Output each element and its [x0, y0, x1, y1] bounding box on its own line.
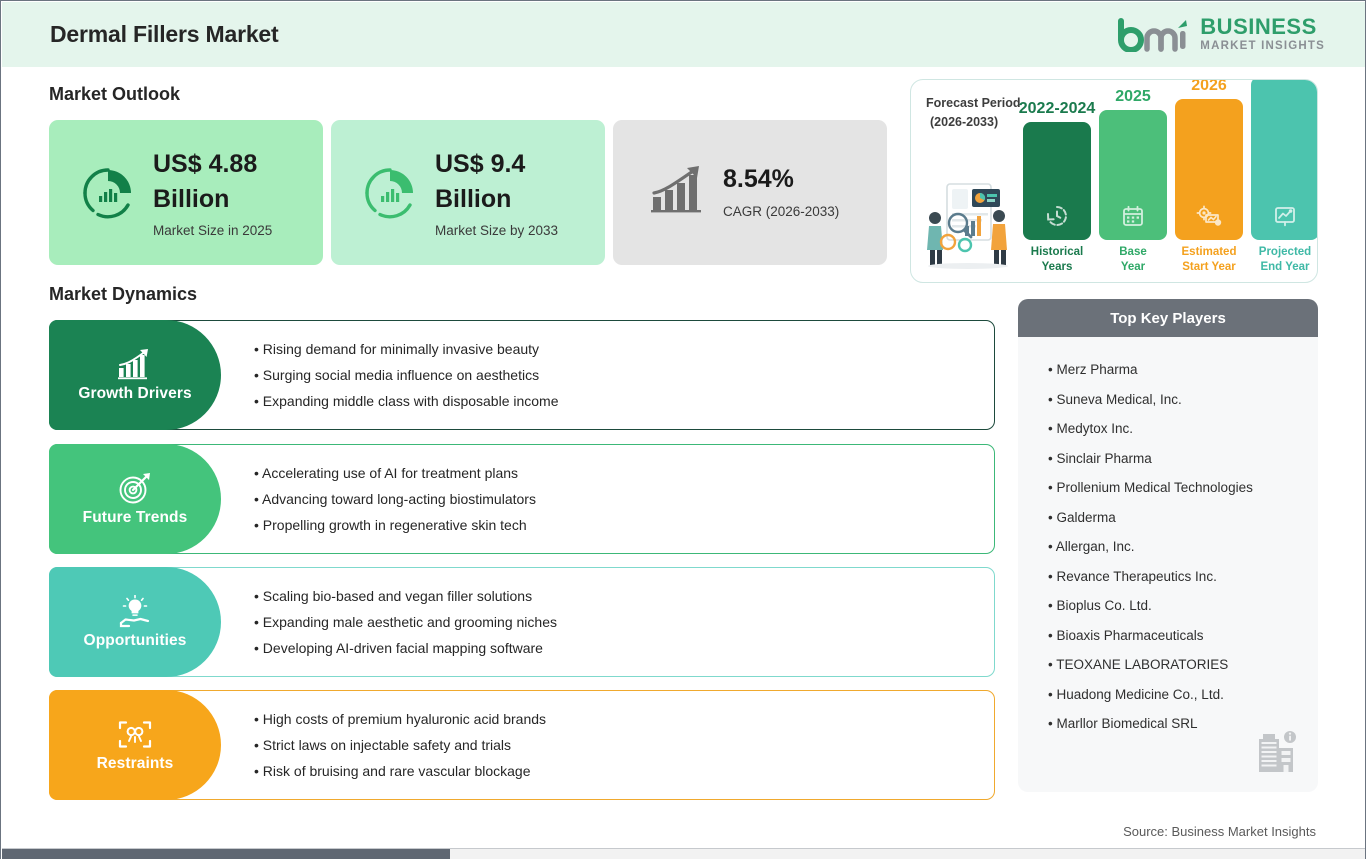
forecast-bar-year: 2025 — [1115, 89, 1151, 105]
list-item: • Galderma — [1048, 503, 1318, 533]
target-dart-icon — [117, 472, 153, 505]
market-dynamics-heading: Market Dynamics — [49, 284, 197, 305]
dynamics-pill-label: Growth Drivers — [78, 385, 191, 403]
horizontal-scrollbar[interactable] — [2, 848, 1365, 859]
dynamics-pill-label: Future Trends — [83, 509, 188, 527]
history-clock-icon — [1045, 204, 1069, 228]
source-attribution: Source: Business Market Insights — [1123, 824, 1316, 839]
list-item: • Medytox Inc. — [1048, 414, 1318, 444]
stat-card-cagr: 8.54% CAGR (2026-2033) — [613, 120, 887, 265]
constraint-frame-icon — [117, 718, 153, 751]
stat-card-market-size-2025: US$ 4.88 Billion Market Size in 2025 — [49, 120, 323, 265]
dynamics-card-growth-drivers: • Rising demand for minimally invasive b… — [49, 320, 995, 430]
donut-chart-icon — [361, 164, 419, 222]
list-item: • Merz Pharma — [1048, 355, 1318, 385]
forecast-bar-projected: 2033 Projected End Year — [1251, 79, 1318, 274]
dynamics-item: • Advancing toward long-acting biostimul… — [254, 486, 994, 512]
forecast-period-chart: Forecast Period (2026-2033) — [910, 79, 1318, 283]
forecast-gear-icon — [1196, 204, 1222, 228]
stat-label: Market Size by 2033 — [435, 223, 558, 238]
logo-primary-text: BUSINESS — [1200, 16, 1325, 38]
forecast-bar-estimated: 2026 Estimated Start Year — [1175, 79, 1243, 274]
list-item: • TEOXANE LABORATORIES — [1048, 650, 1318, 680]
scrollbar-thumb[interactable] — [2, 849, 450, 859]
list-item: • Revance Therapeutics Inc. — [1048, 562, 1318, 592]
growth-chart-icon — [117, 348, 153, 381]
list-item: • Bioplus Co. Ltd. — [1048, 591, 1318, 621]
dynamics-item: • Accelerating use of AI for treatment p… — [254, 460, 994, 486]
top-key-players-title: Top Key Players — [1110, 310, 1226, 327]
list-item: • Sinclair Pharma — [1048, 444, 1318, 474]
top-key-players-header: Top Key Players — [1018, 299, 1318, 337]
page-title: Dermal Fillers Market — [50, 21, 278, 48]
list-item: • Suneva Medical, Inc. — [1048, 385, 1318, 415]
bmi-logo-icon — [1117, 18, 1191, 52]
top-key-players-panel: Top Key Players • Merz Pharma • Suneva M… — [1018, 299, 1318, 792]
dynamics-item: • Risk of bruising and rare vascular blo… — [254, 758, 994, 784]
company-building-icon — [1254, 728, 1300, 774]
stat-value-line2: Billion — [435, 182, 558, 217]
stat-value-line2: Billion — [153, 182, 272, 217]
presentation-chart-icon — [1273, 204, 1297, 228]
dynamics-item: • Developing AI-driven facial mapping so… — [254, 635, 994, 661]
dynamics-card-restraints: • High costs of premium hyaluronic acid … — [49, 690, 995, 800]
top-key-players-list: • Merz Pharma • Suneva Medical, Inc. • M… — [1018, 337, 1318, 739]
forecast-caption: Forecast Period (2026-2033) — [926, 94, 1020, 132]
forecast-bar-name: Base Year — [1119, 245, 1147, 274]
dynamics-card-future-trends: • Accelerating use of AI for treatment p… — [49, 444, 995, 554]
logo-secondary-text: MARKET INSIGHTS — [1200, 41, 1325, 53]
donut-chart-icon — [79, 164, 137, 222]
forecast-bar-name: Historical Years — [1031, 245, 1083, 274]
forecast-bar-fill — [1023, 122, 1091, 240]
forecast-bar-name: Projected End Year — [1259, 245, 1311, 274]
dynamics-pill-growth-drivers[interactable]: Growth Drivers — [49, 320, 221, 430]
stat-value-line1: 8.54% — [723, 166, 839, 194]
forecast-caption-line2: (2026-2033) — [926, 113, 1020, 132]
forecast-bar-historical: 2022-2024 Historical Years — [1023, 101, 1091, 274]
forecast-bar-base: 2025 Base Year — [1099, 89, 1167, 274]
calendar-icon — [1121, 204, 1145, 228]
forecast-bar-year: 2022-2024 — [1019, 101, 1096, 117]
growth-bars-icon — [649, 164, 707, 222]
forecast-bar-year: 2026 — [1191, 79, 1227, 94]
market-outlook-heading: Market Outlook — [49, 84, 180, 105]
forecast-bar-fill — [1175, 99, 1243, 240]
dynamics-pill-opportunities[interactable]: Opportunities — [49, 567, 221, 677]
dynamics-item: • High costs of premium hyaluronic acid … — [254, 706, 994, 732]
forecast-bar-fill — [1251, 79, 1318, 240]
forecast-bar-group: 2022-2024 Historical Years 2025 — [1023, 80, 1309, 282]
dynamics-item: • Scaling bio-based and vegan filler sol… — [254, 583, 994, 609]
forecast-caption-line1: Forecast Period — [926, 94, 1020, 113]
dynamics-card-opportunities: • Scaling bio-based and vegan filler sol… — [49, 567, 995, 677]
stat-label: CAGR (2026-2033) — [723, 204, 839, 219]
stat-value-line1: US$ 9.4 — [435, 147, 558, 182]
list-item: • Allergan, Inc. — [1048, 532, 1318, 562]
stat-card-market-size-2033: US$ 9.4 Billion Market Size by 2033 — [331, 120, 605, 265]
dynamics-pill-future-trends[interactable]: Future Trends — [49, 444, 221, 554]
dynamics-pill-label: Restraints — [97, 755, 174, 773]
dynamics-pill-restraints[interactable]: Restraints — [49, 690, 221, 800]
forecast-bar-name: Estimated Start Year — [1182, 245, 1237, 274]
list-item: • Huadong Medicine Co., Ltd. — [1048, 680, 1318, 710]
list-item: • Prollenium Medical Technologies — [1048, 473, 1318, 503]
forecast-bar-fill — [1099, 110, 1167, 240]
brand-logo: BUSINESS MARKET INSIGHTS — [1117, 16, 1325, 53]
dynamics-item: • Expanding male aesthetic and grooming … — [254, 609, 994, 635]
dynamics-item: • Propelling growth in regenerative skin… — [254, 512, 994, 538]
dynamics-item: • Strict laws on injectable safety and t… — [254, 732, 994, 758]
stat-label: Market Size in 2025 — [153, 223, 272, 238]
infographic-page: Dermal Fillers Market BUSINESS MARKET IN… — [0, 0, 1366, 859]
dynamics-item: • Surging social media influence on aest… — [254, 362, 994, 388]
lightbulb-hand-icon — [117, 595, 153, 628]
page-header: Dermal Fillers Market BUSINESS MARKET IN… — [2, 2, 1365, 67]
stat-value-line1: US$ 4.88 — [153, 147, 272, 182]
dynamics-pill-label: Opportunities — [84, 632, 187, 650]
team-analytics-illustration — [921, 176, 1015, 270]
dynamics-item: • Rising demand for minimally invasive b… — [254, 336, 994, 362]
list-item: • Bioaxis Pharmaceuticals — [1048, 621, 1318, 651]
dynamics-item: • Expanding middle class with disposable… — [254, 388, 994, 414]
